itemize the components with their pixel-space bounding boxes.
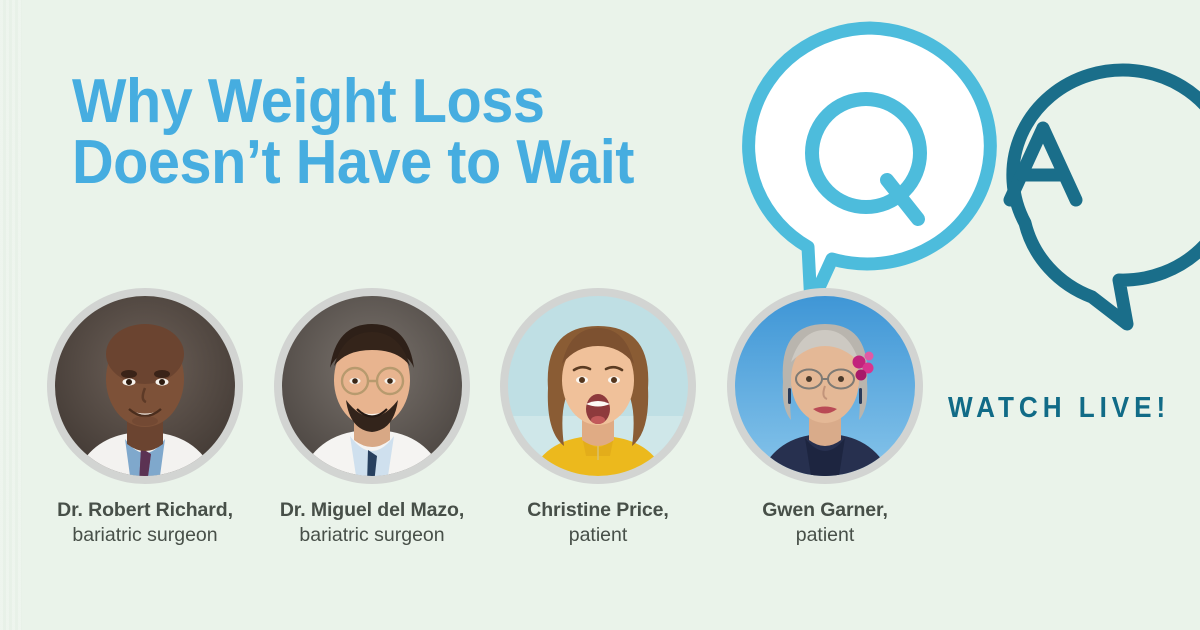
panelist-role: patient (712, 523, 938, 548)
avatar (727, 288, 923, 484)
photo-robert-richard (55, 296, 235, 476)
photo-miguel-del-mazo (282, 296, 462, 476)
answer-speech-bubble (1013, 70, 1200, 324)
question-speech-bubble (749, 28, 991, 305)
watch-live-label[interactable]: WATCH LIVE! (948, 392, 1170, 425)
panelist-role: patient (485, 523, 711, 548)
avatar (500, 288, 696, 484)
avatar (274, 288, 470, 484)
photo-gwen-garner (735, 296, 915, 476)
headline-line-1: Why Weight Loss (72, 72, 723, 133)
panelist-caption: Dr. Robert Richard, bariatric surgeon (32, 498, 258, 549)
headline-line-2: Doesn’t Have to Wait (72, 133, 723, 194)
list-item: Christine Price, patient (485, 288, 711, 549)
panelist-list: Dr. Robert Richard, bariatric surgeon (0, 288, 960, 578)
photo-christine-price (508, 296, 688, 476)
panelist-caption: Christine Price, patient (485, 498, 711, 549)
panelist-role: bariatric surgeon (32, 523, 258, 548)
panelist-name: Dr. Robert Richard, (32, 498, 258, 523)
panelist-name: Christine Price, (485, 498, 711, 523)
panelist-name: Dr. Miguel del Mazo, (259, 498, 485, 523)
panelist-caption: Gwen Garner, patient (712, 498, 938, 549)
list-item: Gwen Garner, patient (712, 288, 938, 549)
page-title: Why Weight Loss Doesn’t Have to Wait (72, 72, 723, 194)
panelist-caption: Dr. Miguel del Mazo, bariatric surgeon (259, 498, 485, 549)
promo-banner: Why Weight Loss Doesn’t Have to Wait (0, 0, 1200, 630)
list-item: Dr. Miguel del Mazo, bariatric surgeon (259, 288, 485, 549)
panelist-name: Gwen Garner, (712, 498, 938, 523)
panelist-role: bariatric surgeon (259, 523, 485, 548)
avatar (47, 288, 243, 484)
list-item: Dr. Robert Richard, bariatric surgeon (32, 288, 258, 549)
